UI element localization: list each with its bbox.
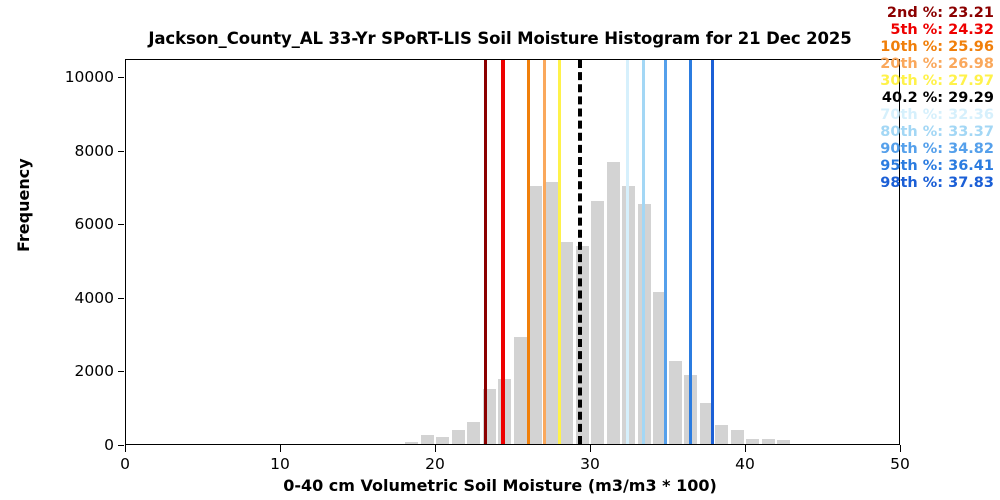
plot-area xyxy=(125,59,900,445)
y-tick-mark xyxy=(118,298,124,299)
x-tick-mark xyxy=(435,445,436,452)
x-tick-label: 0 xyxy=(85,455,165,473)
x-tick-label: 30 xyxy=(550,455,630,473)
page-title: Jackson_County_AL 33-Yr SPoRT-LIS Soil M… xyxy=(0,29,1000,48)
x-tick-label: 40 xyxy=(705,455,785,473)
x-tick-label: 20 xyxy=(395,455,475,473)
y-tick-label: 8000 xyxy=(0,142,114,160)
x-tick-mark xyxy=(590,445,591,452)
percentile-line xyxy=(527,60,530,444)
y-tick-mark xyxy=(118,77,124,78)
y-tick-label: 0 xyxy=(0,436,114,454)
x-tick-mark xyxy=(745,445,746,452)
y-tick-label: 4000 xyxy=(0,289,114,307)
x-axis-label: 0-40 cm Volumetric Soil Moisture (m3/m3 … xyxy=(0,476,1000,495)
percentile-line xyxy=(543,60,546,444)
x-tick-mark xyxy=(900,445,901,452)
x-tick-label: 50 xyxy=(860,455,940,473)
y-tick-mark xyxy=(118,371,124,372)
percentile-line xyxy=(501,60,504,444)
percentile-line xyxy=(578,60,582,444)
y-tick-mark xyxy=(118,445,124,446)
percentile-line xyxy=(626,60,629,444)
y-tick-label: 2000 xyxy=(0,362,114,380)
y-axis-label: Frequency xyxy=(14,158,33,252)
x-tick-mark xyxy=(125,445,126,452)
x-tick-label: 10 xyxy=(240,455,320,473)
percentile-line xyxy=(711,60,714,444)
percentile-line xyxy=(664,60,667,444)
x-tick-mark xyxy=(280,445,281,452)
percentile-line xyxy=(484,60,487,444)
percentile-line xyxy=(642,60,645,444)
histogram-figure: Jackson_County_AL 33-Yr SPoRT-LIS Soil M… xyxy=(0,0,1000,500)
y-tick-mark xyxy=(118,151,124,152)
percentile-lines xyxy=(126,60,899,444)
y-tick-mark xyxy=(118,224,124,225)
y-tick-label: 10000 xyxy=(0,68,114,86)
percentile-line xyxy=(689,60,692,444)
legend-entry: 2nd %: 23.21 xyxy=(880,5,994,22)
y-tick-label: 6000 xyxy=(0,215,114,233)
percentile-line xyxy=(558,60,561,444)
